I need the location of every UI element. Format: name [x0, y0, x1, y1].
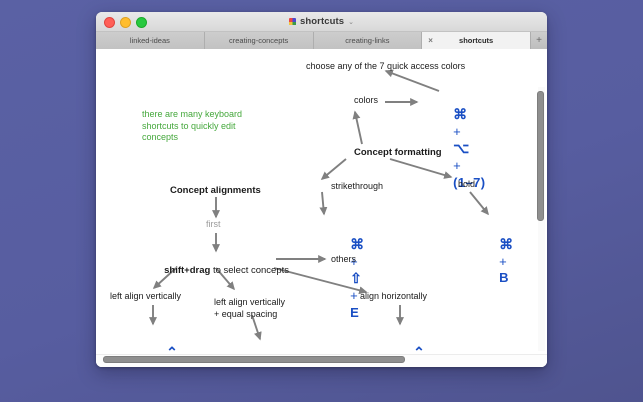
tab-label: creating-concepts: [229, 36, 288, 45]
plus-sign: +: [350, 288, 358, 303]
tab-creating-concepts[interactable]: creating-concepts: [205, 32, 314, 49]
vertical-scrollbar-thumb[interactable]: [537, 91, 544, 221]
key-letter: E: [350, 305, 359, 320]
tab-creating-links[interactable]: creating-links: [314, 32, 423, 49]
tab-shortcuts[interactable]: × shortcuts: [422, 32, 531, 49]
node-others[interactable]: others: [331, 254, 356, 266]
command-icon: ⌘: [350, 236, 364, 252]
app-window: shortcuts ⌄ linked-ideas creating-concep…: [96, 12, 547, 367]
note-keyboard-shortcuts[interactable]: there are many keyboard shortcuts to qui…: [142, 109, 292, 144]
tab-label: creating-links: [345, 36, 389, 45]
shift-drag-emphasis: shift+drag: [164, 265, 210, 276]
tab-linked-ideas[interactable]: linked-ideas: [96, 32, 205, 49]
node-align-horizontally[interactable]: align horizontally: [360, 291, 427, 303]
node-colors[interactable]: colors: [354, 95, 378, 107]
shortcut-bold[interactable]: ⌘ + B: [467, 219, 514, 303]
shortcut-strikethrough[interactable]: ⌘ + ⇧ + E: [318, 219, 365, 338]
node-left-align-vertically[interactable]: left align vertically: [110, 291, 181, 303]
node-concept-alignments[interactable]: Concept alignments: [170, 185, 261, 197]
window-title-group: shortcuts ⌄: [96, 12, 547, 31]
window-title: shortcuts: [300, 16, 344, 27]
node-bold[interactable]: bold: [458, 179, 475, 191]
shift-drag-rest: to select concepts: [210, 265, 289, 276]
node-shift-drag-select[interactable]: shift+drag to select concepts: [143, 253, 289, 289]
horizontal-scrollbar-track[interactable]: [96, 354, 547, 367]
node-left-align-equal-spacing[interactable]: left align vertically + equal spacing: [214, 297, 285, 320]
window-titlebar[interactable]: shortcuts ⌄: [96, 12, 547, 32]
desktop-background: shortcuts ⌄ linked-ideas creating-concep…: [0, 0, 643, 402]
plus-sign: +: [453, 124, 461, 139]
plus-sign: +: [453, 158, 461, 173]
tab-label: linked-ideas: [130, 36, 170, 45]
tab-label: shortcuts: [459, 36, 493, 45]
add-tab-button[interactable]: +: [531, 32, 547, 49]
command-icon: ⌘: [453, 106, 467, 122]
chevron-down-icon[interactable]: ⌄: [348, 18, 354, 26]
node-concept-formatting[interactable]: Concept formatting: [354, 147, 442, 159]
document-icon: [289, 18, 296, 25]
tab-bar: linked-ideas creating-concepts creating-…: [96, 32, 547, 50]
close-icon[interactable]: ×: [428, 37, 433, 45]
plus-sign: +: [499, 254, 507, 269]
horizontal-scrollbar-thumb[interactable]: [103, 356, 405, 363]
node-strikethrough[interactable]: strikethrough: [331, 181, 383, 193]
node-quick-access-colors[interactable]: choose any of the 7 quick access colors: [306, 61, 465, 73]
concept-map-canvas[interactable]: choose any of the 7 quick access colors …: [96, 49, 547, 367]
option-icon: ⌥: [453, 140, 470, 156]
command-icon: ⌘: [499, 236, 513, 252]
node-first[interactable]: first: [206, 219, 221, 231]
key-letter: B: [499, 270, 509, 285]
shift-icon: ⇧: [350, 270, 362, 286]
